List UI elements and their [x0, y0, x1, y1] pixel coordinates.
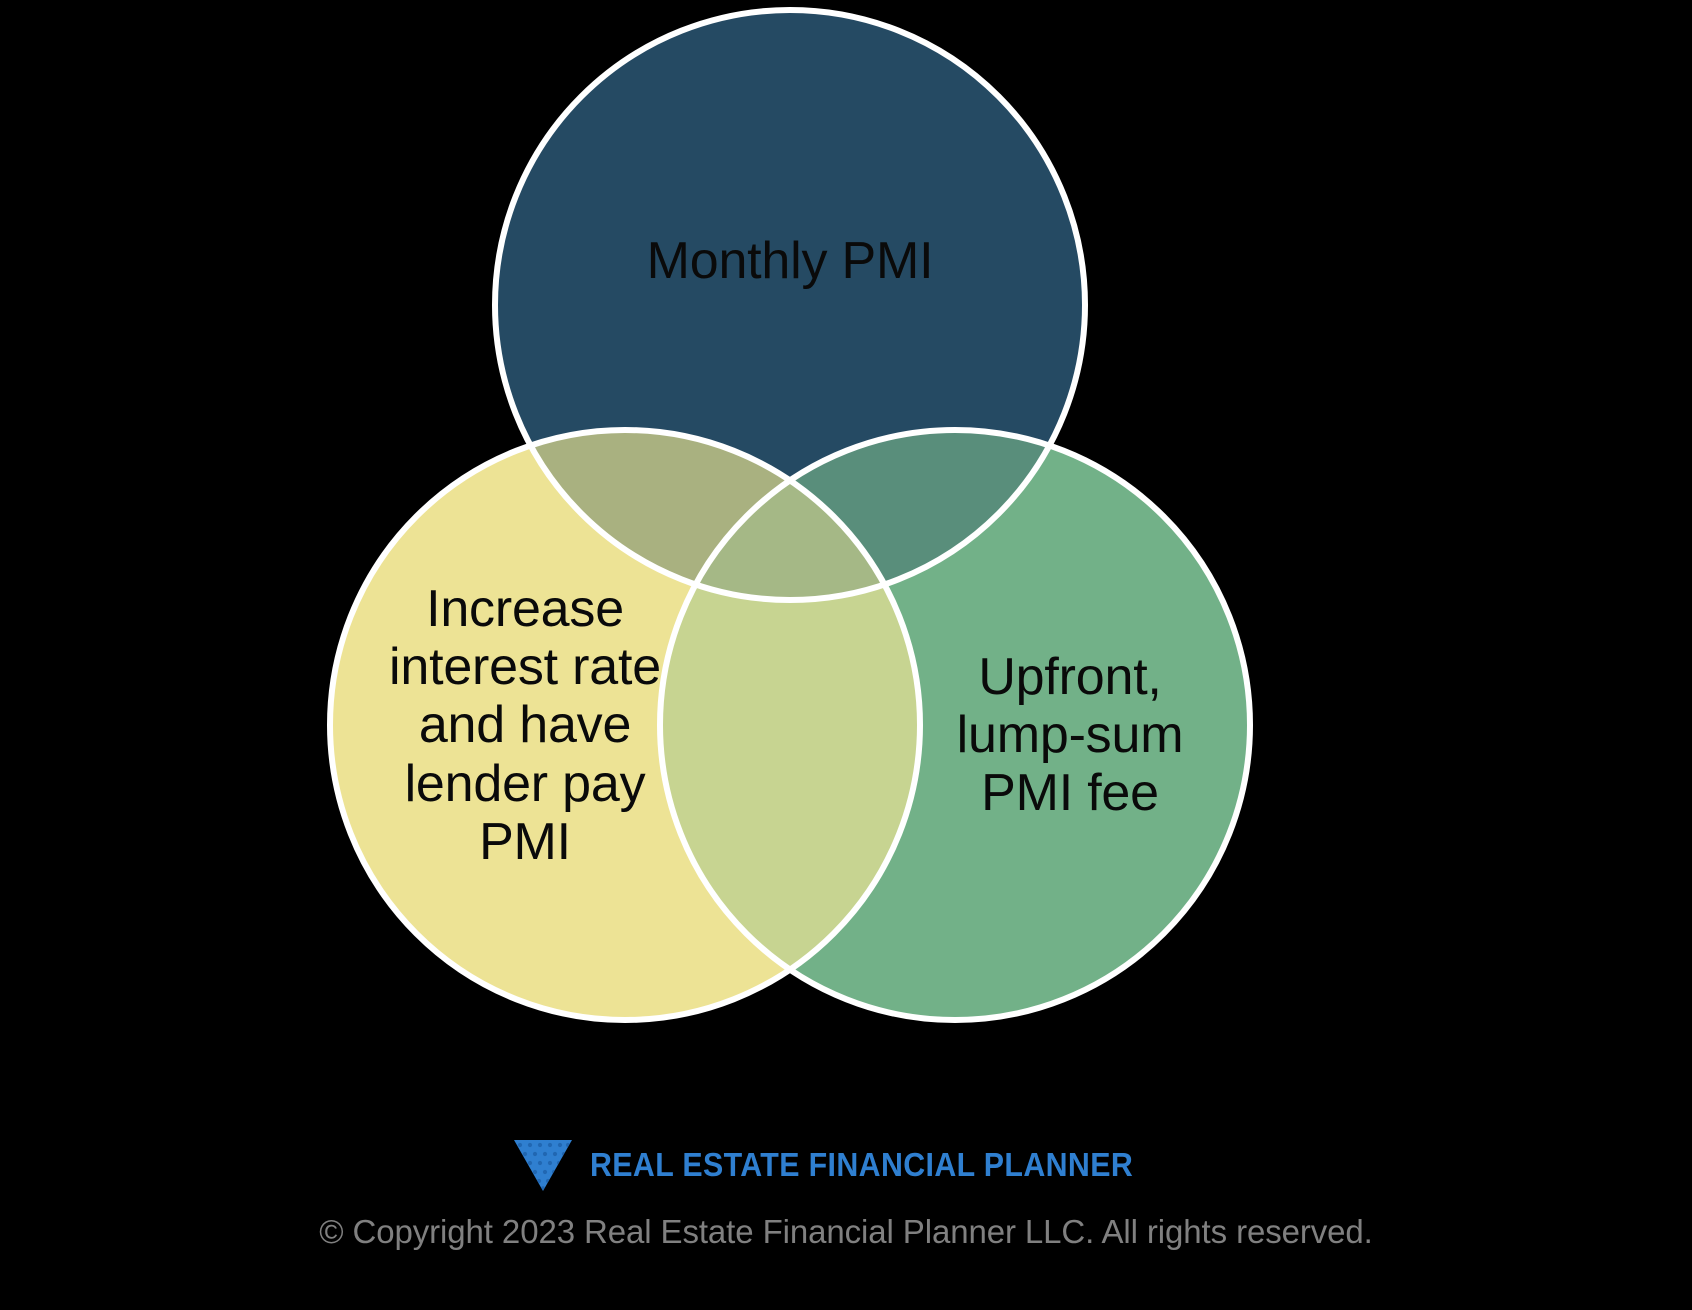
venn-diagram-canvas: Monthly PMI Increase interest rate and h… — [0, 0, 1692, 1310]
venn-circles-graphic — [0, 0, 1692, 1130]
triangle-halftone-icon — [512, 1138, 574, 1192]
brand-wordmark: REAL ESTATE FINANCIAL PLANNER — [590, 1146, 1133, 1184]
copyright-text: © Copyright 2023 Real Estate Financial P… — [0, 1213, 1692, 1251]
footer: REAL ESTATE FINANCIAL PLANNER © Copyrigh… — [0, 1135, 1692, 1310]
brand-row: REAL ESTATE FINANCIAL PLANNER — [0, 1135, 1692, 1195]
